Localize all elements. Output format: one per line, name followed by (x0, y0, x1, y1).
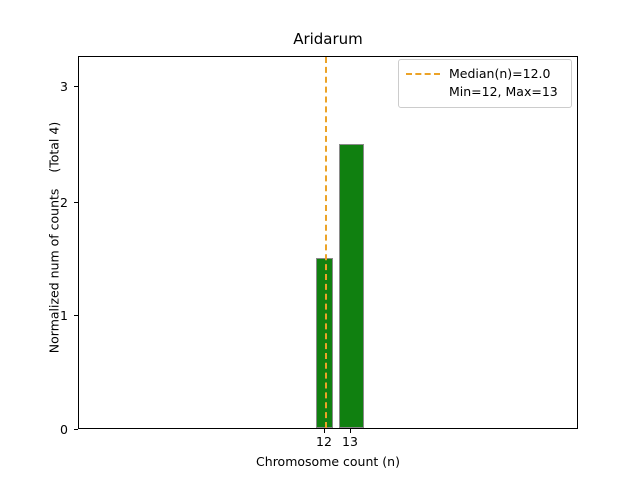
x-tick-label-13: 13 (330, 435, 370, 449)
bar-13 (339, 144, 364, 428)
plot-area (78, 56, 578, 429)
median-line (325, 57, 327, 428)
legend: Median(n)=12.0 Min=12, Max=13 (398, 59, 572, 108)
dashed-line-icon (406, 73, 440, 75)
page-title: Aridarum (78, 30, 578, 48)
legend-label-minmax: Min=12, Max=13 (449, 84, 558, 100)
chart-figure: Aridarum 3 2 1 0 12 13 Median(n)=12.0 Mi… (0, 0, 640, 480)
legend-label-median: Median(n)=12.0 (449, 66, 550, 82)
y-tick-mark-0 (74, 429, 78, 430)
x-tick-mark-13 (350, 429, 351, 433)
legend-entry-minmax: Min=12, Max=13 (406, 83, 564, 101)
x-tick-mark-12 (324, 429, 325, 433)
x-axis-label: Chromosome count (n) (78, 454, 578, 469)
legend-entry-median: Median(n)=12.0 (406, 65, 564, 83)
y-axis-label: Normalized num of counts (Total 4) (47, 48, 62, 428)
